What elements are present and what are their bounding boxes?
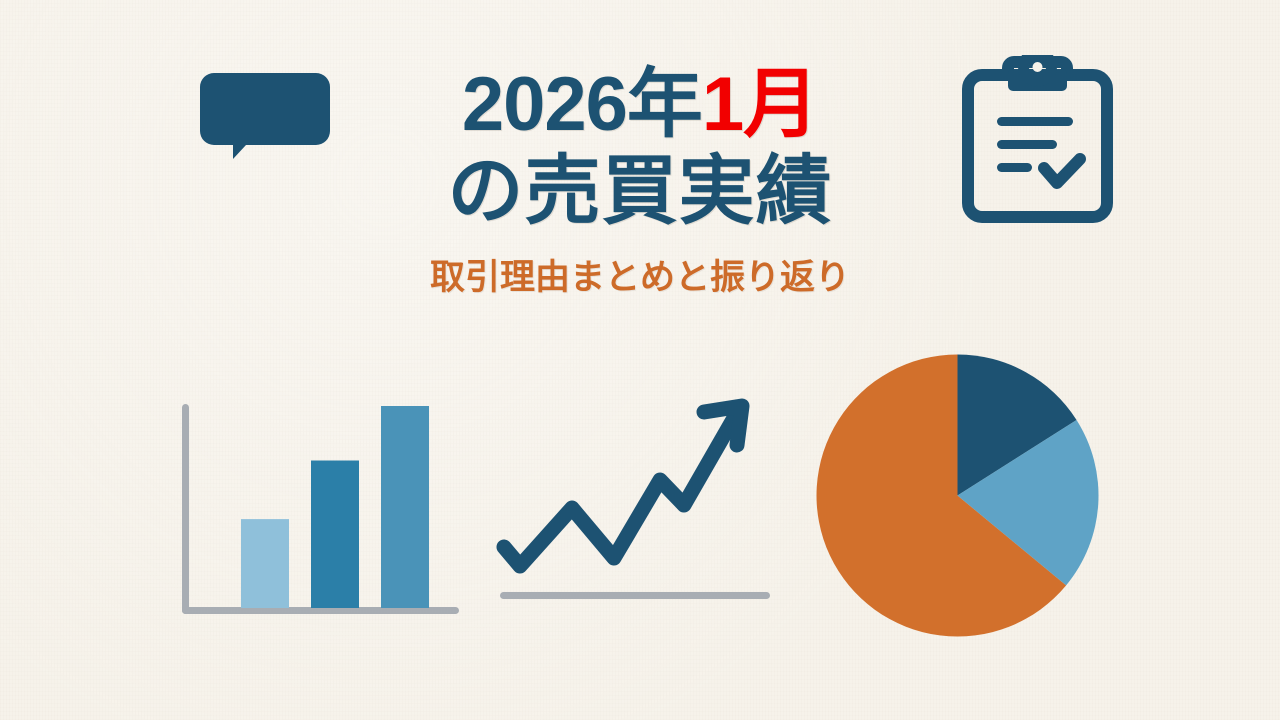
clipboard-check-icon <box>960 55 1115 225</box>
title-month-accent: 1月 <box>702 62 818 147</box>
line-chart-baseline <box>500 592 770 599</box>
bar-chart-x-axis <box>182 607 459 614</box>
line-chart <box>492 390 787 615</box>
speech-bubble-icon <box>200 73 330 159</box>
title-year-month: 2026年 <box>462 62 702 147</box>
title-line-1: 2026年1月 <box>340 66 940 144</box>
thumbnail-canvas: 2026年1月 の売買実績 取引理由まとめと振り返り <box>0 0 1280 720</box>
title-line-2: の売買実績 <box>340 148 940 235</box>
bar-chart-bar-3 <box>381 406 429 608</box>
line-chart-trend-path <box>504 418 734 566</box>
bar-chart-bar-1 <box>241 519 289 608</box>
title-block: 2026年1月 の売買実績 取引理由まとめと振り返り <box>340 66 940 300</box>
bar-chart <box>178 396 463 621</box>
pie-chart <box>815 353 1100 638</box>
bar-chart-y-axis <box>182 404 189 614</box>
page-subtitle: 取引理由まとめと振り返り <box>340 249 940 300</box>
bar-chart-bar-2 <box>311 461 359 609</box>
